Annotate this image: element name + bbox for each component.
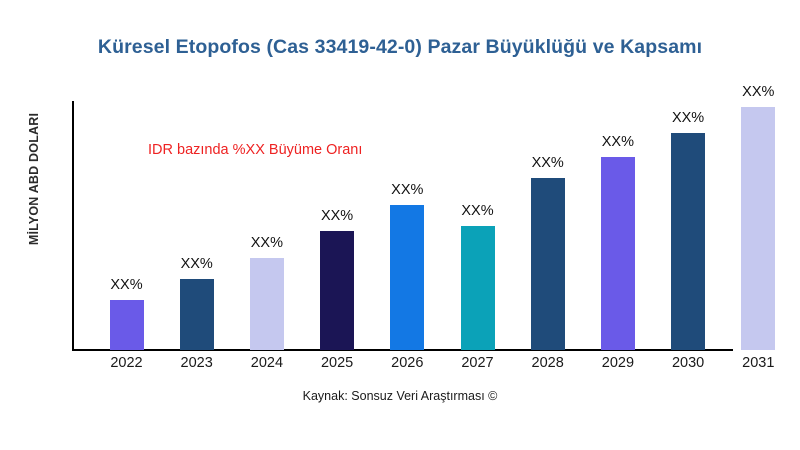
bar-value-label-2024: XX% — [232, 235, 302, 251]
bar-value-label-2026: XX% — [372, 182, 442, 198]
growth-rate-annotation: IDR bazında %XX Büyüme Oranı — [148, 142, 362, 158]
bar-value-label-2029: XX% — [583, 134, 653, 150]
x-tick-label-2023: 2023 — [162, 355, 232, 371]
bar-value-label-2025: XX% — [302, 208, 372, 224]
bar-2025[interactable] — [320, 231, 354, 350]
x-tick-label-2025: 2025 — [302, 355, 372, 371]
bar-2028[interactable] — [531, 178, 565, 350]
bar-2030[interactable] — [671, 133, 705, 350]
x-tick-label-2024: 2024 — [232, 355, 302, 371]
bar-2027[interactable] — [461, 226, 495, 350]
bar-value-label-2023: XX% — [162, 256, 232, 272]
bar-2024[interactable] — [250, 258, 284, 350]
y-axis-line — [72, 101, 74, 351]
bar-2026[interactable] — [390, 205, 424, 350]
x-tick-label-2022: 2022 — [92, 355, 162, 371]
bar-2022[interactable] — [110, 300, 144, 350]
plot-area: XX%2022XX%2023XX%2024XX%2025XX%2026XX%20… — [0, 0, 800, 450]
bar-value-label-2030: XX% — [653, 110, 723, 126]
x-tick-label-2030: 2030 — [653, 355, 723, 371]
x-tick-label-2029: 2029 — [583, 355, 653, 371]
chart-container: Küresel Etopofos (Cas 33419-42-0) Pazar … — [0, 0, 800, 450]
bar-2031[interactable] — [741, 107, 775, 350]
bar-value-label-2022: XX% — [92, 277, 162, 293]
bar-value-label-2031: XX% — [723, 84, 793, 100]
bar-2023[interactable] — [180, 279, 214, 350]
source-caption: Kaynak: Sonsuz Veri Araştırması © — [0, 389, 800, 403]
x-tick-label-2027: 2027 — [443, 355, 513, 371]
bar-value-label-2028: XX% — [513, 155, 583, 171]
bar-value-label-2027: XX% — [443, 203, 513, 219]
bar-2029[interactable] — [601, 157, 635, 350]
x-tick-label-2031: 2031 — [723, 355, 793, 371]
x-tick-label-2026: 2026 — [372, 355, 442, 371]
x-tick-label-2028: 2028 — [513, 355, 583, 371]
